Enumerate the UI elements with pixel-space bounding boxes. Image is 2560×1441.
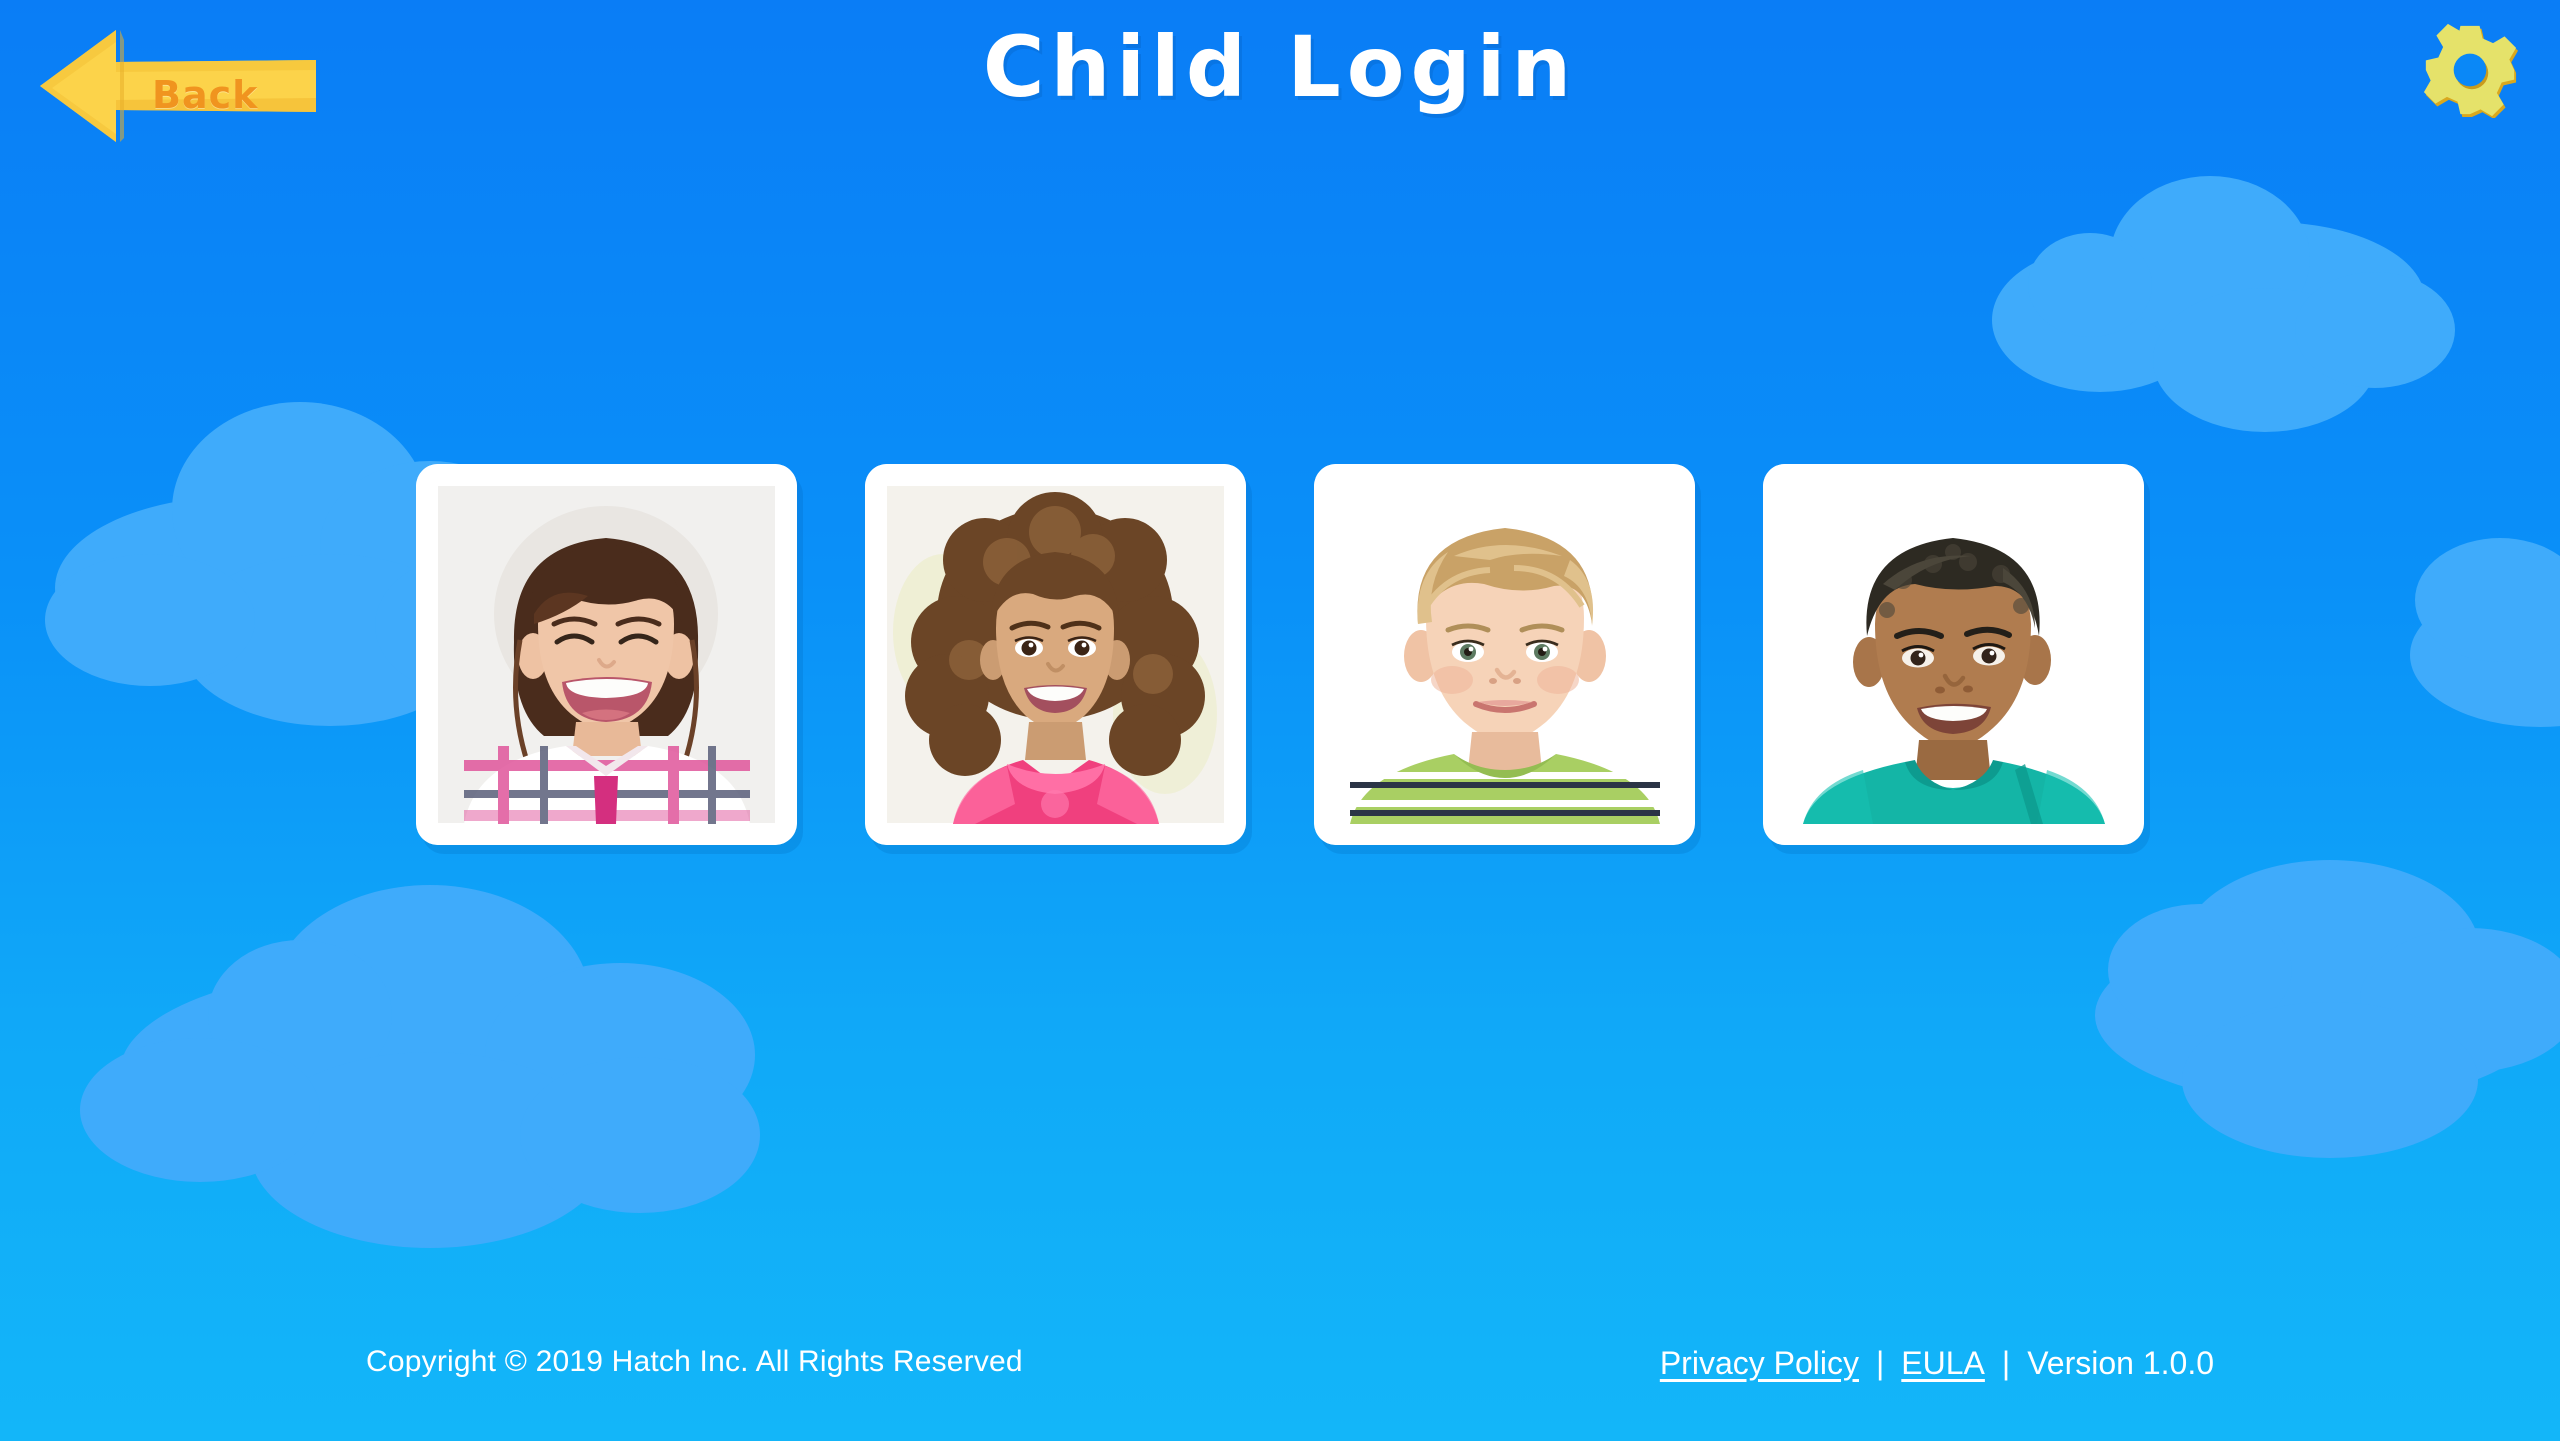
child-photo: [1763, 464, 2144, 845]
child-profile-card[interactable]: [1763, 464, 2144, 845]
footer-separator-1: |: [1859, 1345, 1901, 1382]
child-profile-card[interactable]: [1314, 464, 1695, 845]
copyright-text: Copyright © 2019 Hatch Inc. All Rights R…: [366, 1345, 1023, 1379]
footer-bar: Copyright © 2019 Hatch Inc. All Rights R…: [0, 1321, 2560, 1441]
child-profile-list: [0, 464, 2560, 864]
privacy-policy-link[interactable]: Privacy Policy: [1660, 1345, 1859, 1382]
cloud-bottom-left: [80, 885, 760, 1248]
child-photo: [416, 464, 797, 845]
child-profile-card[interactable]: [865, 464, 1246, 845]
version-label: Version 1.0.0: [2027, 1345, 2214, 1382]
page-title: Child Login: [0, 18, 2560, 116]
child-profile-card[interactable]: [416, 464, 797, 845]
settings-button[interactable]: [2422, 22, 2518, 118]
footer-separator-2: |: [1985, 1345, 2027, 1382]
footer-links: Privacy Policy | EULA | Version 1.0.0: [1660, 1345, 2214, 1382]
header-bar: Back Child Login: [0, 0, 2560, 185]
eula-link[interactable]: EULA: [1901, 1345, 1985, 1382]
cloud-top-right: [1992, 176, 2455, 432]
child-photo: [865, 464, 1246, 845]
cloud-right-lower: [2095, 860, 2560, 1158]
child-photo: [1314, 464, 1695, 845]
gear-icon: [2422, 22, 2518, 118]
